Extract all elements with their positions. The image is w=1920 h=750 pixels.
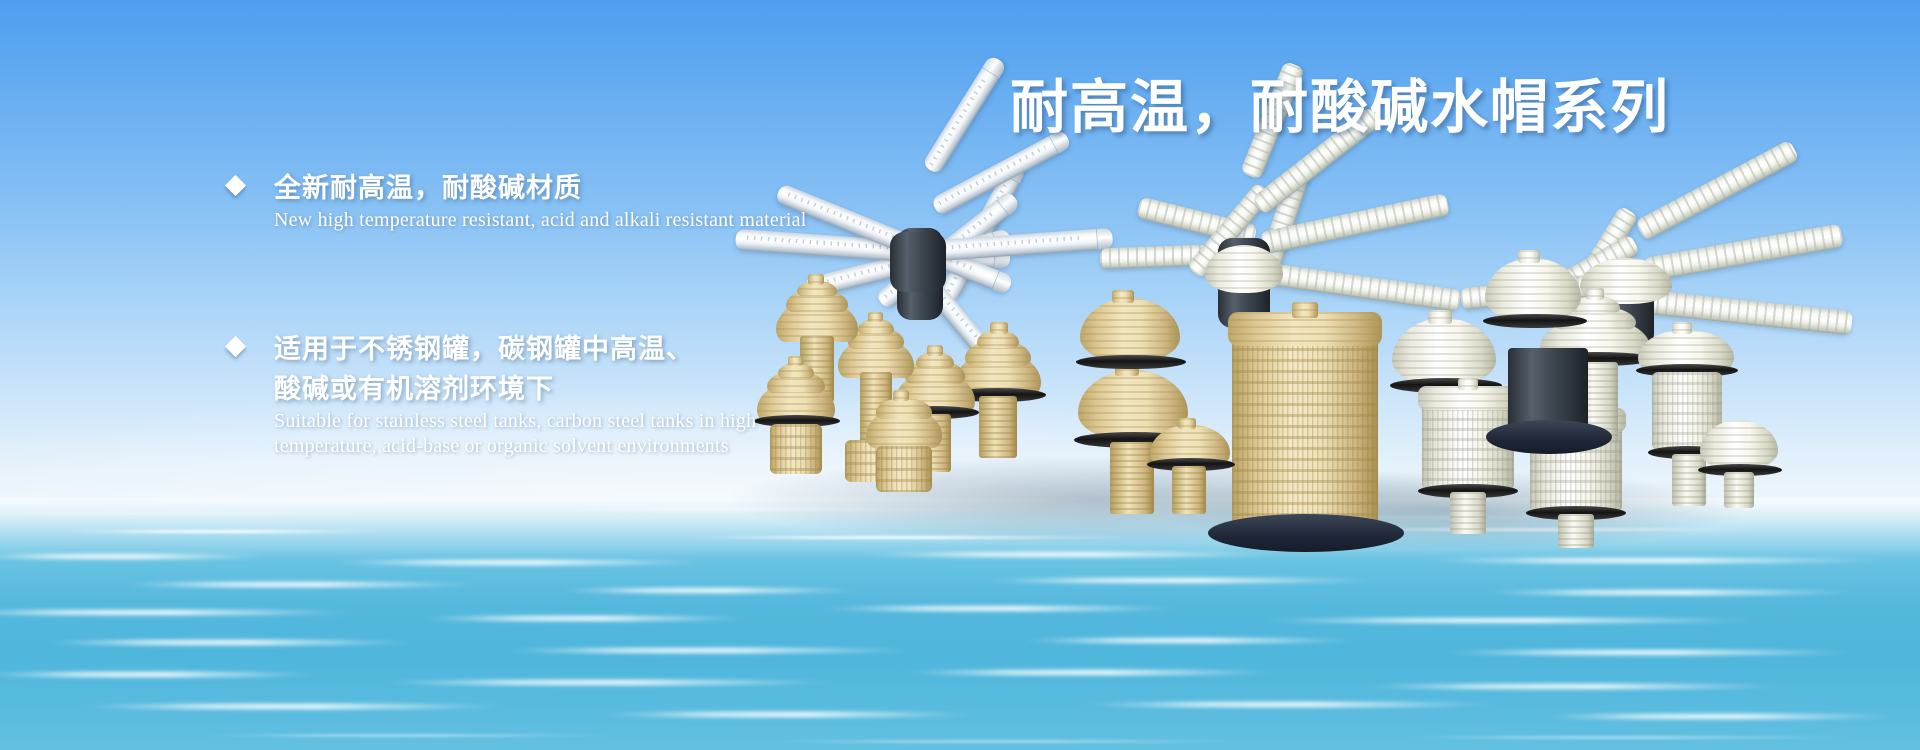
feature-bullet-2: 适用于不锈钢罐，碳钢罐中高温、 酸碱或有机溶剂环境下 Suitable for …	[228, 329, 928, 459]
filter-base-flange	[1208, 514, 1404, 552]
bullet-1-chinese: 全新耐高温，耐酸碱材质	[274, 168, 928, 208]
strainer-arm	[922, 54, 1008, 175]
filter-knob	[1292, 302, 1318, 318]
corrugated-arm	[1635, 139, 1800, 241]
feature-bullet-1: 全新耐高温，耐酸碱材质 New high temperature resista…	[228, 168, 928, 233]
feature-bullet-list: 全新耐高温，耐酸碱材质 New high temperature resista…	[228, 168, 928, 555]
bullet-2-english-line2: temperature, acid-base or organic solven…	[274, 434, 928, 459]
diamond-bullet-icon	[225, 175, 246, 196]
corrugated-arm	[1260, 262, 1461, 312]
corrugated-arm	[1643, 223, 1844, 281]
diamond-bullet-icon	[225, 336, 246, 357]
bullet-2-chinese-line2: 酸碱或有机溶剂环境下	[274, 369, 928, 409]
bullet-1-english: New high temperature resistant, acid and…	[274, 208, 928, 233]
bullet-2-english-line1: Suitable for stainless steel tanks, carb…	[274, 409, 928, 434]
page-title: 耐高温，耐酸碱水帽系列	[1010, 60, 1670, 144]
bullet-2-chinese-line1: 适用于不锈钢罐，碳钢罐中高温、	[274, 329, 928, 369]
product-banner: 耐高温，耐酸碱水帽系列 全新耐高温，耐酸碱材质 New high tempera…	[0, 0, 1920, 750]
filter-body	[1232, 326, 1378, 524]
